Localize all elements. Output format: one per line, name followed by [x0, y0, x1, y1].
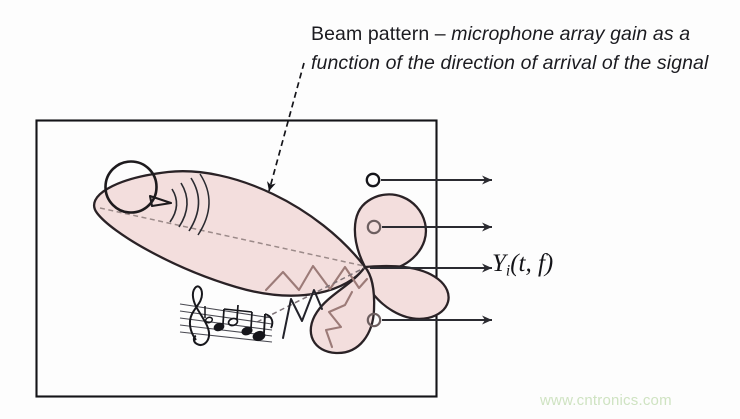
talker-source — [106, 162, 210, 236]
zigzag-main-lobe — [266, 266, 367, 290]
side-lobe-upper — [355, 194, 426, 270]
diagram-frame — [37, 121, 437, 397]
soundwave-arc-3 — [189, 178, 199, 231]
zigzag-music-path — [283, 290, 322, 338]
formula-args: (t, f) — [510, 250, 553, 277]
output-signal-formula: Yi(t, f) — [492, 250, 553, 280]
music-notes-icon — [205, 305, 272, 342]
side-lobe-right — [364, 266, 449, 319]
soundwave-arc-2 — [179, 183, 187, 227]
music-source — [180, 286, 272, 345]
sensor-icon-1 — [367, 174, 379, 186]
soundwave-arc-4 — [198, 174, 209, 235]
direction-of-arrival-rays — [100, 208, 364, 322]
mouth-icon — [150, 196, 171, 206]
caption-lead: Beam pattern – — [311, 23, 451, 45]
slide-canvas: Beam pattern – microphone array gain as … — [0, 0, 740, 419]
side-lobe-lower — [311, 267, 374, 353]
zigzag-lower-lobe — [326, 292, 352, 347]
caption-pointer — [269, 63, 304, 191]
beam-pattern — [94, 171, 448, 353]
formula-base: Y — [492, 250, 506, 277]
watermark: www.cntronics.com — [540, 392, 672, 409]
caption-text: Beam pattern – microphone array gain as … — [311, 20, 731, 78]
treble-clef-icon — [190, 286, 209, 345]
doa-ray-music — [257, 268, 364, 322]
head-icon — [106, 162, 157, 213]
sensor-icon-2 — [368, 221, 380, 233]
main-lobe — [94, 171, 365, 295]
doa-ray-talker — [100, 208, 364, 266]
output-arrows — [367, 174, 492, 326]
music-staff — [180, 304, 272, 342]
sensor-icon-4 — [368, 314, 380, 326]
soundwave-arc-1 — [170, 189, 177, 222]
